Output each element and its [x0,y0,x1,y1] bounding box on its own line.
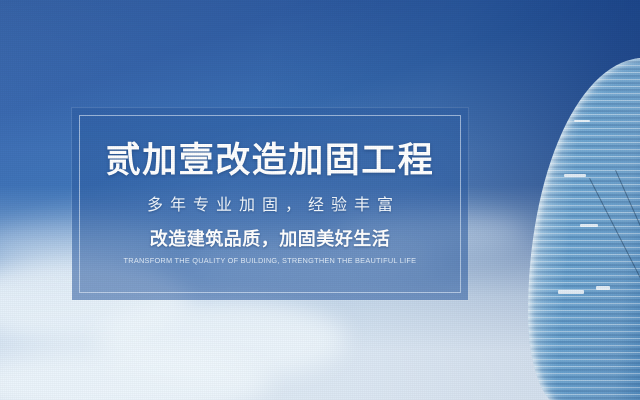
subtitle-primary: 多年专业加固，经验丰富 [147,198,400,214]
building-window-glint [574,120,590,122]
banner-image: 贰加壹改造加固工程 多年专业加固，经验丰富 改造建筑品质，加固美好生活 TRAN… [0,0,640,400]
headline-panel: 贰加壹改造加固工程 多年专业加固，经验丰富 改造建筑品质，加固美好生活 TRAN… [72,108,468,300]
building-window-glint [564,174,586,177]
panel-content: 贰加壹改造加固工程 多年专业加固，经验丰富 改造建筑品质，加固美好生活 TRAN… [72,108,468,300]
building-window-glint [580,224,598,227]
page-title: 贰加壹改造加固工程 [106,143,435,178]
building-window-glint [558,290,584,294]
skyscraper-building [528,58,640,400]
building-edge-highlight [528,58,640,400]
tagline-english: TRANSFORM THE QUALITY OF BUILDING, STREN… [124,257,417,265]
subtitle-secondary: 改造建筑品质，加固美好生活 [150,230,391,248]
building-window-glint [596,286,610,290]
